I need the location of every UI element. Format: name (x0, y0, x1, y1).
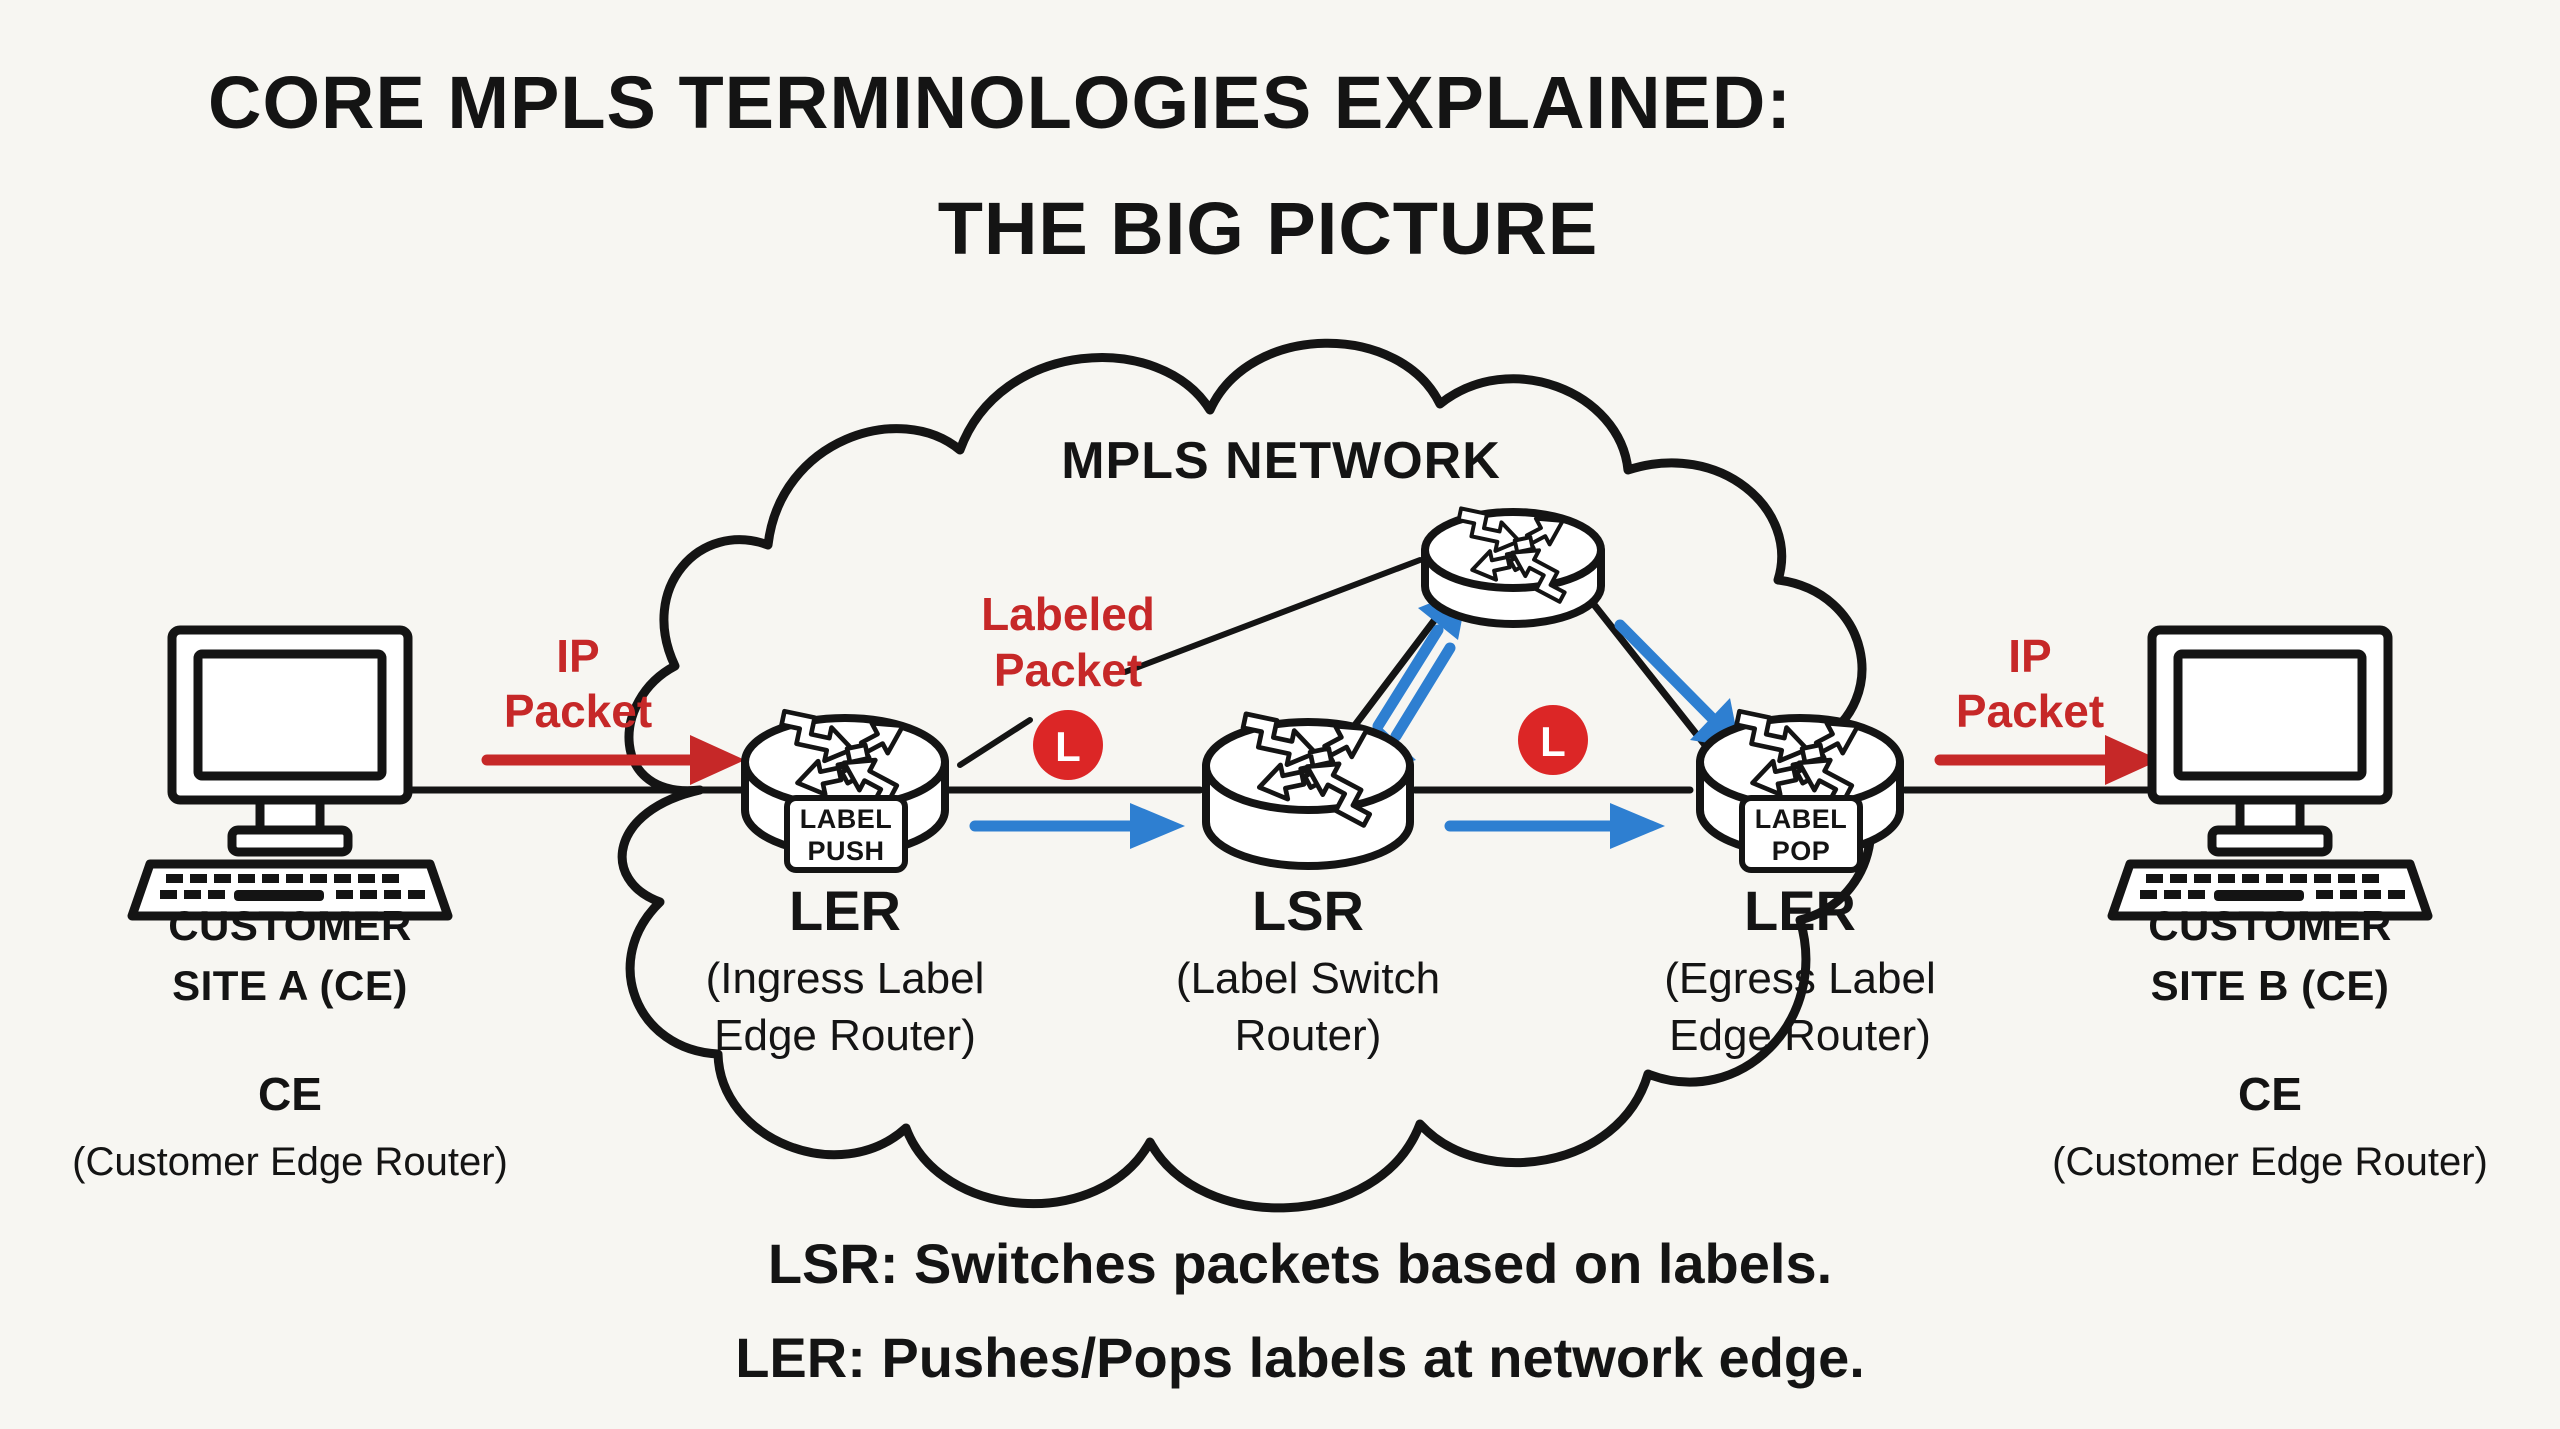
core-router-top (1425, 512, 1601, 588)
page-title-line1: CORE MPLS TERMINOLOGIES EXPLAINED: (208, 61, 1792, 144)
lsr-expansion-line1: (Label Switch (1176, 954, 1440, 1003)
diagram-canvas: MPLS NETWORK IP Packet IP Packet (0, 0, 2560, 1429)
site-b-role-expansion: (Customer Edge Router) (2052, 1140, 2488, 1184)
lsr-name: LSR (1252, 879, 1364, 942)
label-pop-chip-line1: LABEL (1755, 804, 1848, 834)
ip-packet-flow-right: IP Packet (1940, 630, 2160, 785)
blue-arrow-1-head (1130, 803, 1185, 849)
egress-ler-name: LER (1744, 879, 1856, 942)
ip-packet-left-line2: Packet (504, 685, 652, 737)
ip-packet-right-line2: Packet (1956, 685, 2104, 737)
ip-packet-right-line1: IP (2008, 630, 2051, 682)
blue-arrow-diag-shaft (1620, 625, 1712, 718)
leader-labeled-packet (1125, 560, 1420, 672)
labeled-packet-line2: Packet (994, 644, 1142, 696)
customer-site-b-computer (2112, 630, 2428, 916)
label-push-chip-line1: LABEL (800, 804, 893, 834)
ingress-ler-name: LER (789, 879, 901, 942)
egress-ler-expansion-line2: Edge Router) (1669, 1011, 1931, 1060)
label-push-chip-line2: PUSH (807, 836, 884, 866)
site-a-role-expansion: (Customer Edge Router) (72, 1140, 508, 1184)
monitor-base (232, 830, 348, 852)
label-pop-chip-line2: POP (1772, 836, 1831, 866)
link-core-to-egress (1588, 597, 1705, 745)
site-a-label-line1: CUSTOMER (168, 902, 412, 949)
monitor-screen (2178, 654, 2362, 776)
blue-arrow-2-head (1610, 803, 1665, 849)
site-b-role: CE (2238, 1068, 2302, 1120)
site-b-label-line1: CUSTOMER (2148, 902, 2392, 949)
core-p-router[interactable] (1425, 508, 1601, 624)
customer-site-a-computer (132, 630, 448, 916)
labeled-packet-annotation: Labeled Packet L (981, 588, 1155, 780)
lsr-expansion-line2: Router) (1235, 1011, 1382, 1060)
red-arrow-left-head (690, 735, 745, 785)
egress-ler-expansion-line1: (Egress Label (1664, 954, 1935, 1003)
mpls-diagram-svg: MPLS NETWORK IP Packet IP Packet (0, 0, 2560, 1429)
ingress-ler-expansion-line1: (Ingress Label (706, 954, 985, 1003)
monitor-screen (198, 654, 382, 776)
ip-packet-left-line1: IP (556, 630, 599, 682)
ip-packet-flow-left: IP Packet (487, 630, 745, 785)
site-a-role: CE (258, 1068, 322, 1120)
labeled-packet-line1: Labeled (981, 588, 1155, 640)
caption-line2: LER: Pushes/Pops labels at network edge. (735, 1326, 1865, 1389)
ingress-ler-expansion-line2: Edge Router) (714, 1011, 976, 1060)
site-a-label-line2: SITE A (CE) (172, 962, 408, 1009)
caption-line1: LSR: Switches packets based on labels. (768, 1232, 1832, 1295)
label-badge-mid: L (1518, 705, 1588, 775)
lsr-router[interactable] (1206, 713, 1410, 866)
ingress-ler-router[interactable]: LABEL PUSH (745, 711, 945, 870)
monitor-base (2212, 830, 2328, 852)
label-badge-2-text: L (1540, 718, 1566, 765)
label-badge-1-text: L (1055, 723, 1081, 770)
site-b-label-line2: SITE B (CE) (2151, 962, 2390, 1009)
page-title-line2: THE BIG PICTURE (938, 187, 1598, 270)
leader-badge-ingress (960, 720, 1030, 765)
cloud-label: MPLS NETWORK (1061, 432, 1501, 490)
